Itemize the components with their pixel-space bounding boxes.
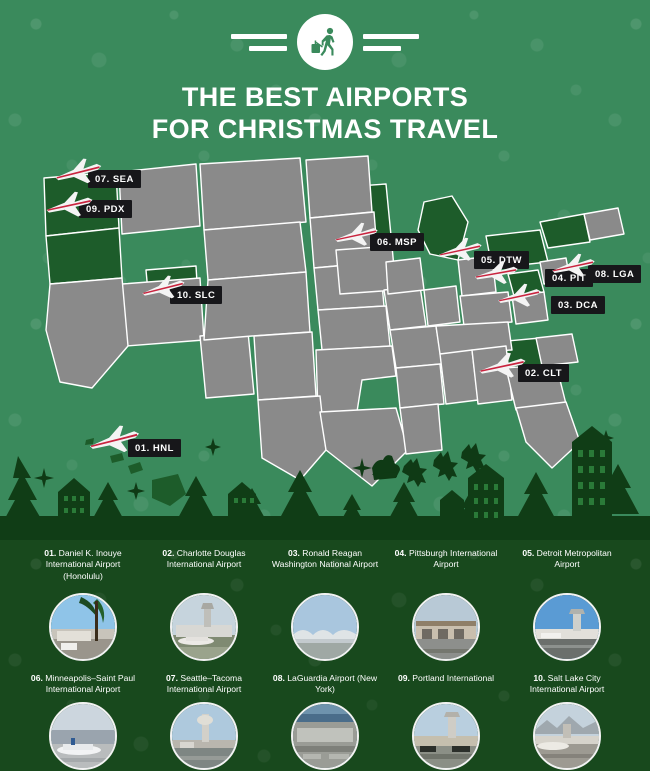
- state-florida: [516, 402, 580, 468]
- state-arizona: [200, 332, 254, 398]
- infographic-page: THE BEST AIRPORTS FOR CHRISTMAS TRAVEL: [0, 0, 650, 771]
- legend-item-08[interactable]: 08. LaGuardia Airport (New York): [270, 673, 380, 770]
- charlotte-airport-photo[interactable]: [170, 593, 238, 661]
- logo-row: [0, 0, 650, 70]
- state-arkansas: [396, 364, 444, 408]
- legend-rank-05: 05.: [522, 548, 534, 558]
- legend-caption-06: 06. Minneapolis–Saint Paul International…: [28, 673, 138, 699]
- legend-row-1: 01. Daniel K. Inouye International Airpo…: [10, 548, 640, 661]
- legend-item-10[interactable]: 10. Salt Lake City International Airport: [512, 673, 622, 770]
- legend-caption-10: 10. Salt Lake City International Airport: [512, 673, 622, 699]
- legend-item-09[interactable]: 09. Portland International: [391, 673, 501, 770]
- legend-item-02[interactable]: 02. Charlotte Douglas International Airp…: [149, 548, 259, 661]
- header: THE BEST AIRPORTS FOR CHRISTMAS TRAVEL: [0, 0, 650, 150]
- legend-rank-06: 06.: [31, 673, 43, 683]
- legend-caption-04: 04. Pittsburgh International Airport: [391, 548, 501, 590]
- state-montana: [200, 158, 306, 230]
- legend-item-06[interactable]: 06. Minneapolis–Saint Paul International…: [28, 673, 138, 770]
- title-line-1: THE BEST AIRPORTS: [0, 82, 650, 114]
- legend-caption-03: 03. Ronald Reagan Washington National Ai…: [270, 548, 380, 590]
- state-colorado-w: [204, 272, 310, 340]
- state-south-carolina: [536, 334, 578, 366]
- left-dash-decoration: [231, 34, 287, 51]
- state-louisiana: [400, 404, 442, 454]
- pittsburgh-airport-photo[interactable]: [412, 593, 480, 661]
- honolulu-airport-photo[interactable]: [49, 593, 117, 661]
- legend-name-05: Detroit Metropolitan Airport: [534, 548, 611, 569]
- state-iowa-e: [386, 258, 424, 294]
- state-oregon: [46, 228, 122, 284]
- legend-item-05[interactable]: 05. Detroit Metropolitan Airport: [512, 548, 622, 661]
- legend-rank-07: 07.: [166, 673, 178, 683]
- title-line-2: FOR CHRISTMAS TRAVEL: [0, 114, 650, 146]
- legend-rank-01: 01.: [44, 548, 56, 558]
- state-new-mexico: [254, 332, 316, 400]
- state-wyoming: [204, 222, 306, 280]
- legend-name-08: LaGuardia Airport (New York): [285, 673, 377, 694]
- legend-rank-03: 03.: [288, 548, 300, 558]
- legend-caption-07: 07. Seattle–Tacoma International Airport: [149, 673, 259, 699]
- legend-rank-04: 04.: [395, 548, 407, 558]
- minneapolis-airport-photo[interactable]: [49, 702, 117, 770]
- state-missouri-s: [390, 326, 442, 368]
- legend-rank-02: 02.: [162, 548, 174, 558]
- detroit-airport-photo[interactable]: [533, 593, 601, 661]
- legend-name-01: Daniel K. Inouye International Airport (…: [46, 548, 122, 581]
- legend-item-04[interactable]: 04. Pittsburgh International Airport: [391, 548, 501, 661]
- legend-name-04: Pittsburgh International Airport: [407, 548, 498, 569]
- state-new-york: [540, 214, 590, 248]
- state-new-england: [584, 208, 624, 240]
- legend-rank-09: 09.: [398, 673, 410, 683]
- map-label-dca[interactable]: 03. DCA: [551, 296, 605, 314]
- right-dash-decoration: [363, 34, 419, 51]
- state-california: [46, 278, 128, 388]
- legend-name-06: Minneapolis–Saint Paul International Air…: [43, 673, 135, 694]
- state-oklahoma-texas: [316, 346, 396, 418]
- page-title: THE BEST AIRPORTS FOR CHRISTMAS TRAVEL: [0, 82, 650, 146]
- laguardia-airport-photo[interactable]: [291, 702, 359, 770]
- airport-legend: 01. Daniel K. Inouye International Airpo…: [0, 540, 650, 771]
- legend-item-01[interactable]: 01. Daniel K. Inouye International Airpo…: [28, 548, 138, 661]
- state-north-dakota: [306, 156, 372, 218]
- legend-item-07[interactable]: 07. Seattle–Tacoma International Airport: [149, 673, 259, 770]
- seattle-airport-photo[interactable]: [170, 702, 238, 770]
- legend-name-07: Seattle–Tacoma International Airport: [167, 673, 242, 694]
- usa-map: 07. SEA 09. PDX 10. SLC 06. MSP 05. DTW: [0, 150, 650, 540]
- legend-caption-05: 05. Detroit Metropolitan Airport: [512, 548, 622, 590]
- state-kansas: [318, 306, 390, 350]
- legend-name-09: Portland International: [410, 673, 494, 683]
- legend-rank-08: 08.: [273, 673, 285, 683]
- legend-caption-09: 09. Portland International: [398, 673, 494, 699]
- legend-item-03[interactable]: 03. Ronald Reagan Washington National Ai…: [270, 548, 380, 661]
- state-texas-w: [258, 396, 326, 480]
- legend-rank-10: 10.: [533, 673, 545, 683]
- legend-row-2: 06. Minneapolis–Saint Paul International…: [10, 673, 640, 770]
- traveler-with-luggage-icon: [297, 14, 353, 70]
- legend-caption-08: 08. LaGuardia Airport (New York): [270, 673, 380, 699]
- saltlake-airport-photo[interactable]: [533, 702, 601, 770]
- legend-name-02: Charlotte Douglas International Airport: [167, 548, 246, 569]
- legend-caption-02: 02. Charlotte Douglas International Airp…: [149, 548, 259, 590]
- portland-airport-photo[interactable]: [412, 702, 480, 770]
- reagan-airport-photo[interactable]: [291, 593, 359, 661]
- state-texas: [320, 408, 408, 486]
- state-indiana: [424, 286, 460, 326]
- legend-caption-01: 01. Daniel K. Inouye International Airpo…: [28, 548, 138, 590]
